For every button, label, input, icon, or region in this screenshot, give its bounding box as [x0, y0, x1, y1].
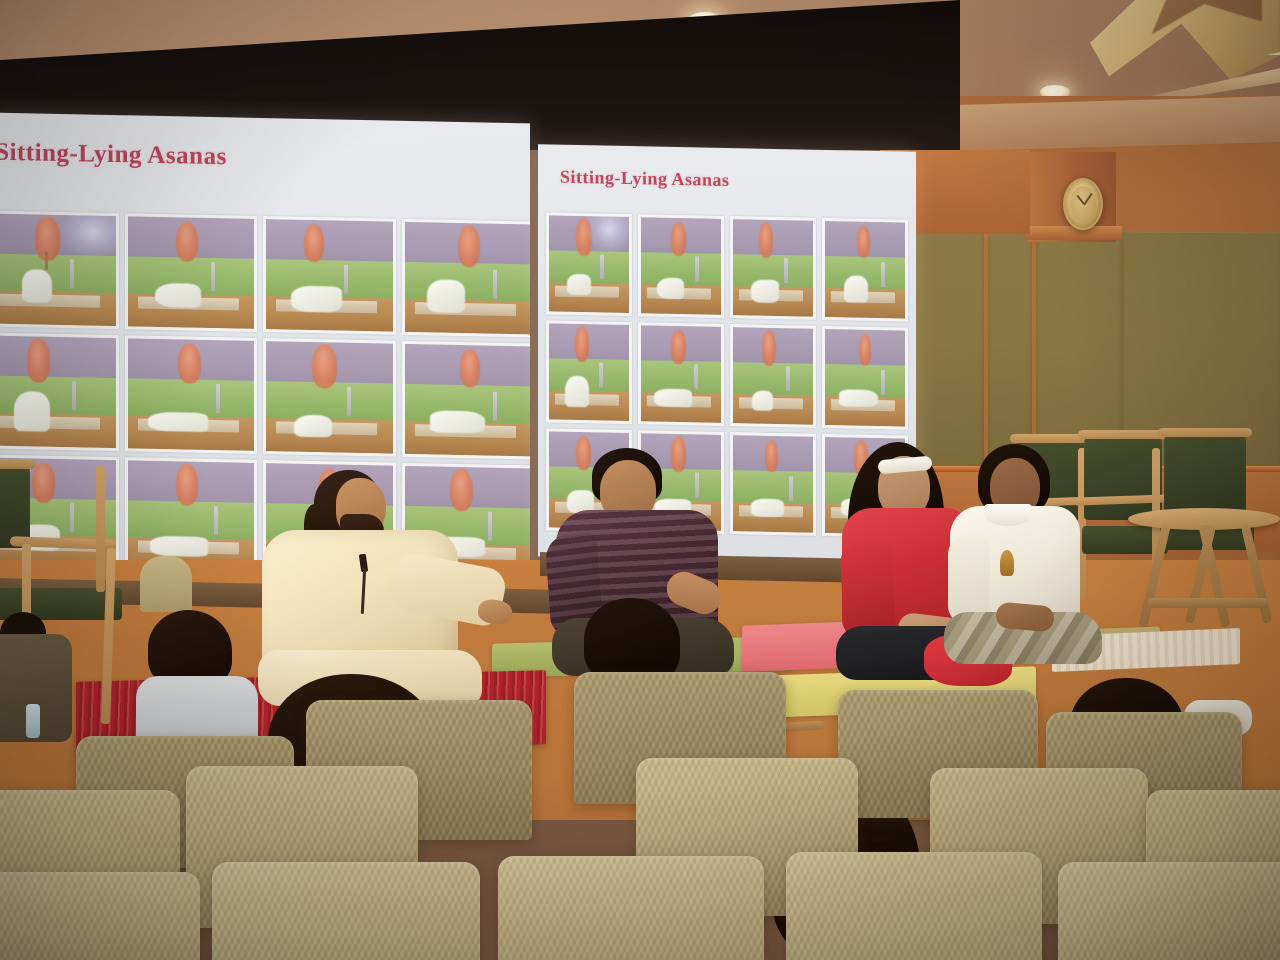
asana-thumbnail: [0, 210, 119, 329]
asana-thumbnail: [0, 332, 119, 451]
asana-thumbnail: [730, 324, 816, 428]
side-table-shelf: [1148, 598, 1268, 608]
asana-thumbnail: [546, 212, 632, 316]
green-chair-back: [1164, 434, 1246, 516]
asana-thumbnail: [638, 322, 724, 426]
chair-frame: [0, 460, 36, 469]
asana-thumbnail: [125, 213, 258, 332]
asana-thumbnail: [125, 457, 258, 576]
asana-thumbnail: [546, 320, 632, 424]
coffer-recess: [1142, 0, 1262, 40]
auditorium-yoga-session-photo: Sitting-Lying Asanas: [0, 0, 1280, 960]
asana-thumbnail: [822, 218, 908, 322]
auditorium-seat[interactable]: [786, 852, 1042, 960]
wall-pilaster-left: [910, 150, 1030, 234]
shirt-logo: [1000, 550, 1014, 576]
participant-white-polo: [948, 444, 1118, 664]
asana-thumbnail: [263, 338, 396, 457]
wall-pilaster-ledge: [1026, 226, 1122, 240]
screen-right-title: Sitting-Lying Asanas: [560, 167, 916, 196]
participant-hands: [995, 602, 1055, 633]
chair-frame: [96, 466, 105, 592]
asana-thumbnail: [402, 219, 531, 338]
participant-arm: [948, 536, 990, 624]
clock-minute-hand: [1083, 193, 1092, 206]
asana-thumbnail: [730, 216, 816, 320]
auditorium-seat[interactable]: [1058, 862, 1280, 960]
asana-thumbnail: [125, 335, 258, 454]
asana-thumbnail: [263, 216, 396, 335]
auditorium-seat[interactable]: [0, 872, 200, 960]
wall-clock: [1063, 178, 1103, 230]
chair-frame: [1078, 430, 1168, 439]
bottle: [26, 704, 40, 738]
clock-face: [1070, 186, 1096, 222]
auditorium-seat[interactable]: [498, 856, 764, 960]
screen-left-title: Sitting-Lying Asanas: [0, 136, 380, 175]
green-chair-back: [140, 556, 192, 612]
asana-thumbnail: [822, 326, 908, 430]
asana-thumbnail: [638, 214, 724, 318]
auditorium-seat[interactable]: [212, 862, 480, 960]
chair-frame: [1158, 428, 1252, 437]
shirt-collar: [984, 504, 1032, 526]
asana-thumbnail: [402, 341, 531, 460]
